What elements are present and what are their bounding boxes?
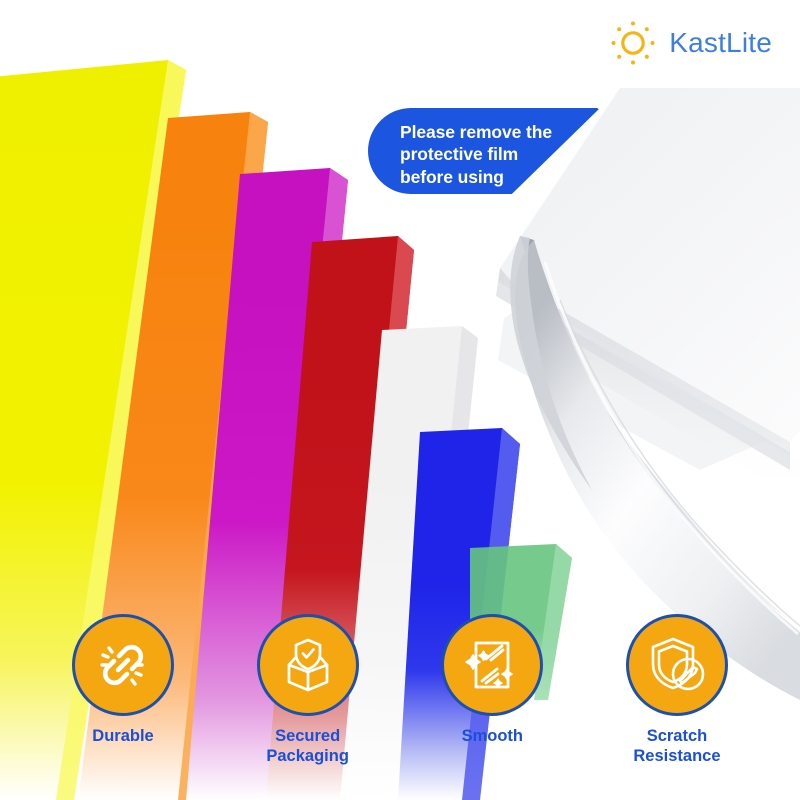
feature-label-smooth: Smooth <box>462 727 523 746</box>
secured-packaging-badge[interactable] <box>257 614 359 716</box>
feature-durable[interactable]: Durable <box>58 614 188 766</box>
feature-secured-packaging[interactable]: Secured Packaging <box>243 614 373 766</box>
durable-badge[interactable] <box>72 614 174 716</box>
scratch-resistance-badge[interactable] <box>626 614 728 716</box>
sun-icon <box>608 18 658 68</box>
protective-film-callout: Please remove the protective film before… <box>368 108 600 194</box>
feature-badge-row: Durable Secured Packaging <box>0 614 800 766</box>
brand-logo: KastLite <box>608 18 772 68</box>
feature-smooth[interactable]: Smooth <box>427 614 557 766</box>
product-image-canvas: Please remove the protective film before… <box>0 0 800 800</box>
brand-name: KastLite <box>669 29 772 57</box>
smooth-badge[interactable] <box>441 614 543 716</box>
callout-text: Please remove the protective film before… <box>400 121 584 188</box>
chain-link-icon <box>92 634 154 696</box>
feature-label-secured-packaging: Secured Packaging <box>266 727 349 766</box>
feature-label-durable: Durable <box>92 727 153 746</box>
feature-scratch-resistance[interactable]: Scratch Resistance <box>612 614 742 766</box>
shielded-box-icon <box>277 634 339 696</box>
shield-blade-icon <box>646 634 708 696</box>
sparkling-panel-icon <box>462 635 522 695</box>
feature-label-scratch-resistance: Scratch Resistance <box>633 727 720 766</box>
